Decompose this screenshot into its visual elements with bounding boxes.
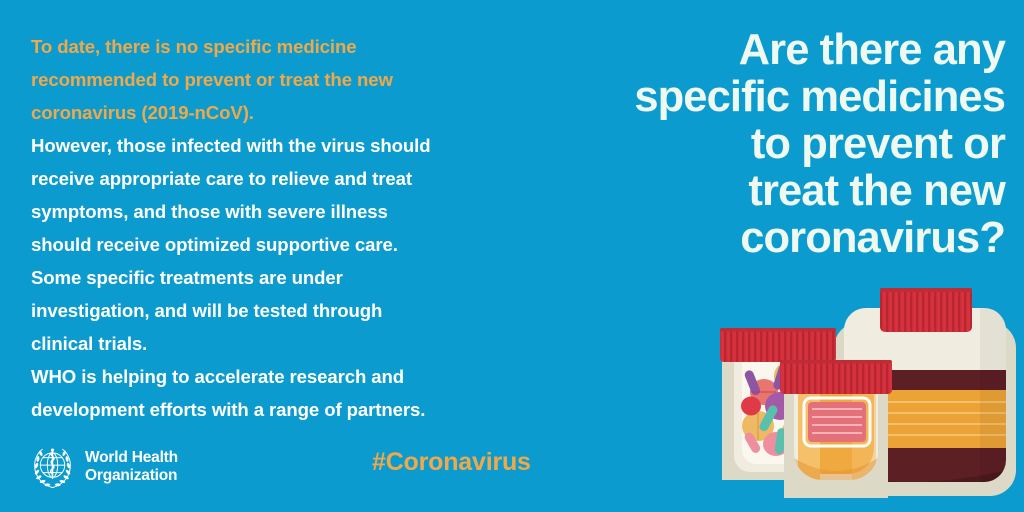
who-wordmark-line1: World Health <box>85 449 178 467</box>
body-line: clinical trials. <box>31 333 147 354</box>
who-logo: World Health Organization <box>29 443 178 490</box>
hashtag-coronavirus: #Coronavirus <box>372 448 531 477</box>
bottle-cap-right <box>880 288 972 332</box>
paragraph-who-research: WHO is helping to accelerate research an… <box>31 360 551 426</box>
paragraph-care: However, those infected with the virus s… <box>31 129 551 261</box>
bottle-cap-center <box>780 360 892 394</box>
body-line: coronavirus (2019-nCoV). <box>31 102 254 123</box>
body-line: should receive optimized supportive care… <box>31 234 398 255</box>
page-title: Are there any specific medicines to prev… <box>560 27 1005 262</box>
body-line: development efforts with a range of part… <box>31 399 425 420</box>
syrup-bottle-center <box>780 360 892 498</box>
who-emblem-icon <box>29 443 76 490</box>
who-wordmark-line2: Organization <box>85 467 178 485</box>
headline-line: specific medicines <box>560 74 1005 121</box>
body-line: However, those infected with the virus s… <box>31 135 430 156</box>
headline-line: Are there any <box>560 27 1005 74</box>
paragraph-highlight: To date, there is no specific medicine r… <box>31 30 551 129</box>
body-line: investigation, and will be tested throug… <box>31 300 382 321</box>
body-copy: To date, there is no specific medicine r… <box>31 30 551 426</box>
paragraph-treatments: Some specific treatments are under inves… <box>31 261 551 360</box>
medicine-bottles-illustration <box>718 286 1018 512</box>
body-line: symptoms, and those with severe illness <box>31 201 388 222</box>
body-line: Some specific treatments are under <box>31 267 343 288</box>
body-line: recommended to prevent or treat the new <box>31 69 393 90</box>
headline-line: treat the new <box>560 168 1005 215</box>
body-line: WHO is helping to accelerate research an… <box>31 366 404 387</box>
who-wordmark: World Health Organization <box>85 449 178 485</box>
bottle-cap-left <box>720 328 836 362</box>
body-line: receive appropriate care to relieve and … <box>31 168 412 189</box>
headline-line: coronavirus? <box>560 215 1005 262</box>
bottle-label-center <box>804 398 870 446</box>
who-coronavirus-infographic: To date, there is no specific medicine r… <box>0 0 1024 512</box>
body-line: To date, there is no specific medicine <box>31 36 356 57</box>
headline-line: to prevent or <box>560 121 1005 168</box>
